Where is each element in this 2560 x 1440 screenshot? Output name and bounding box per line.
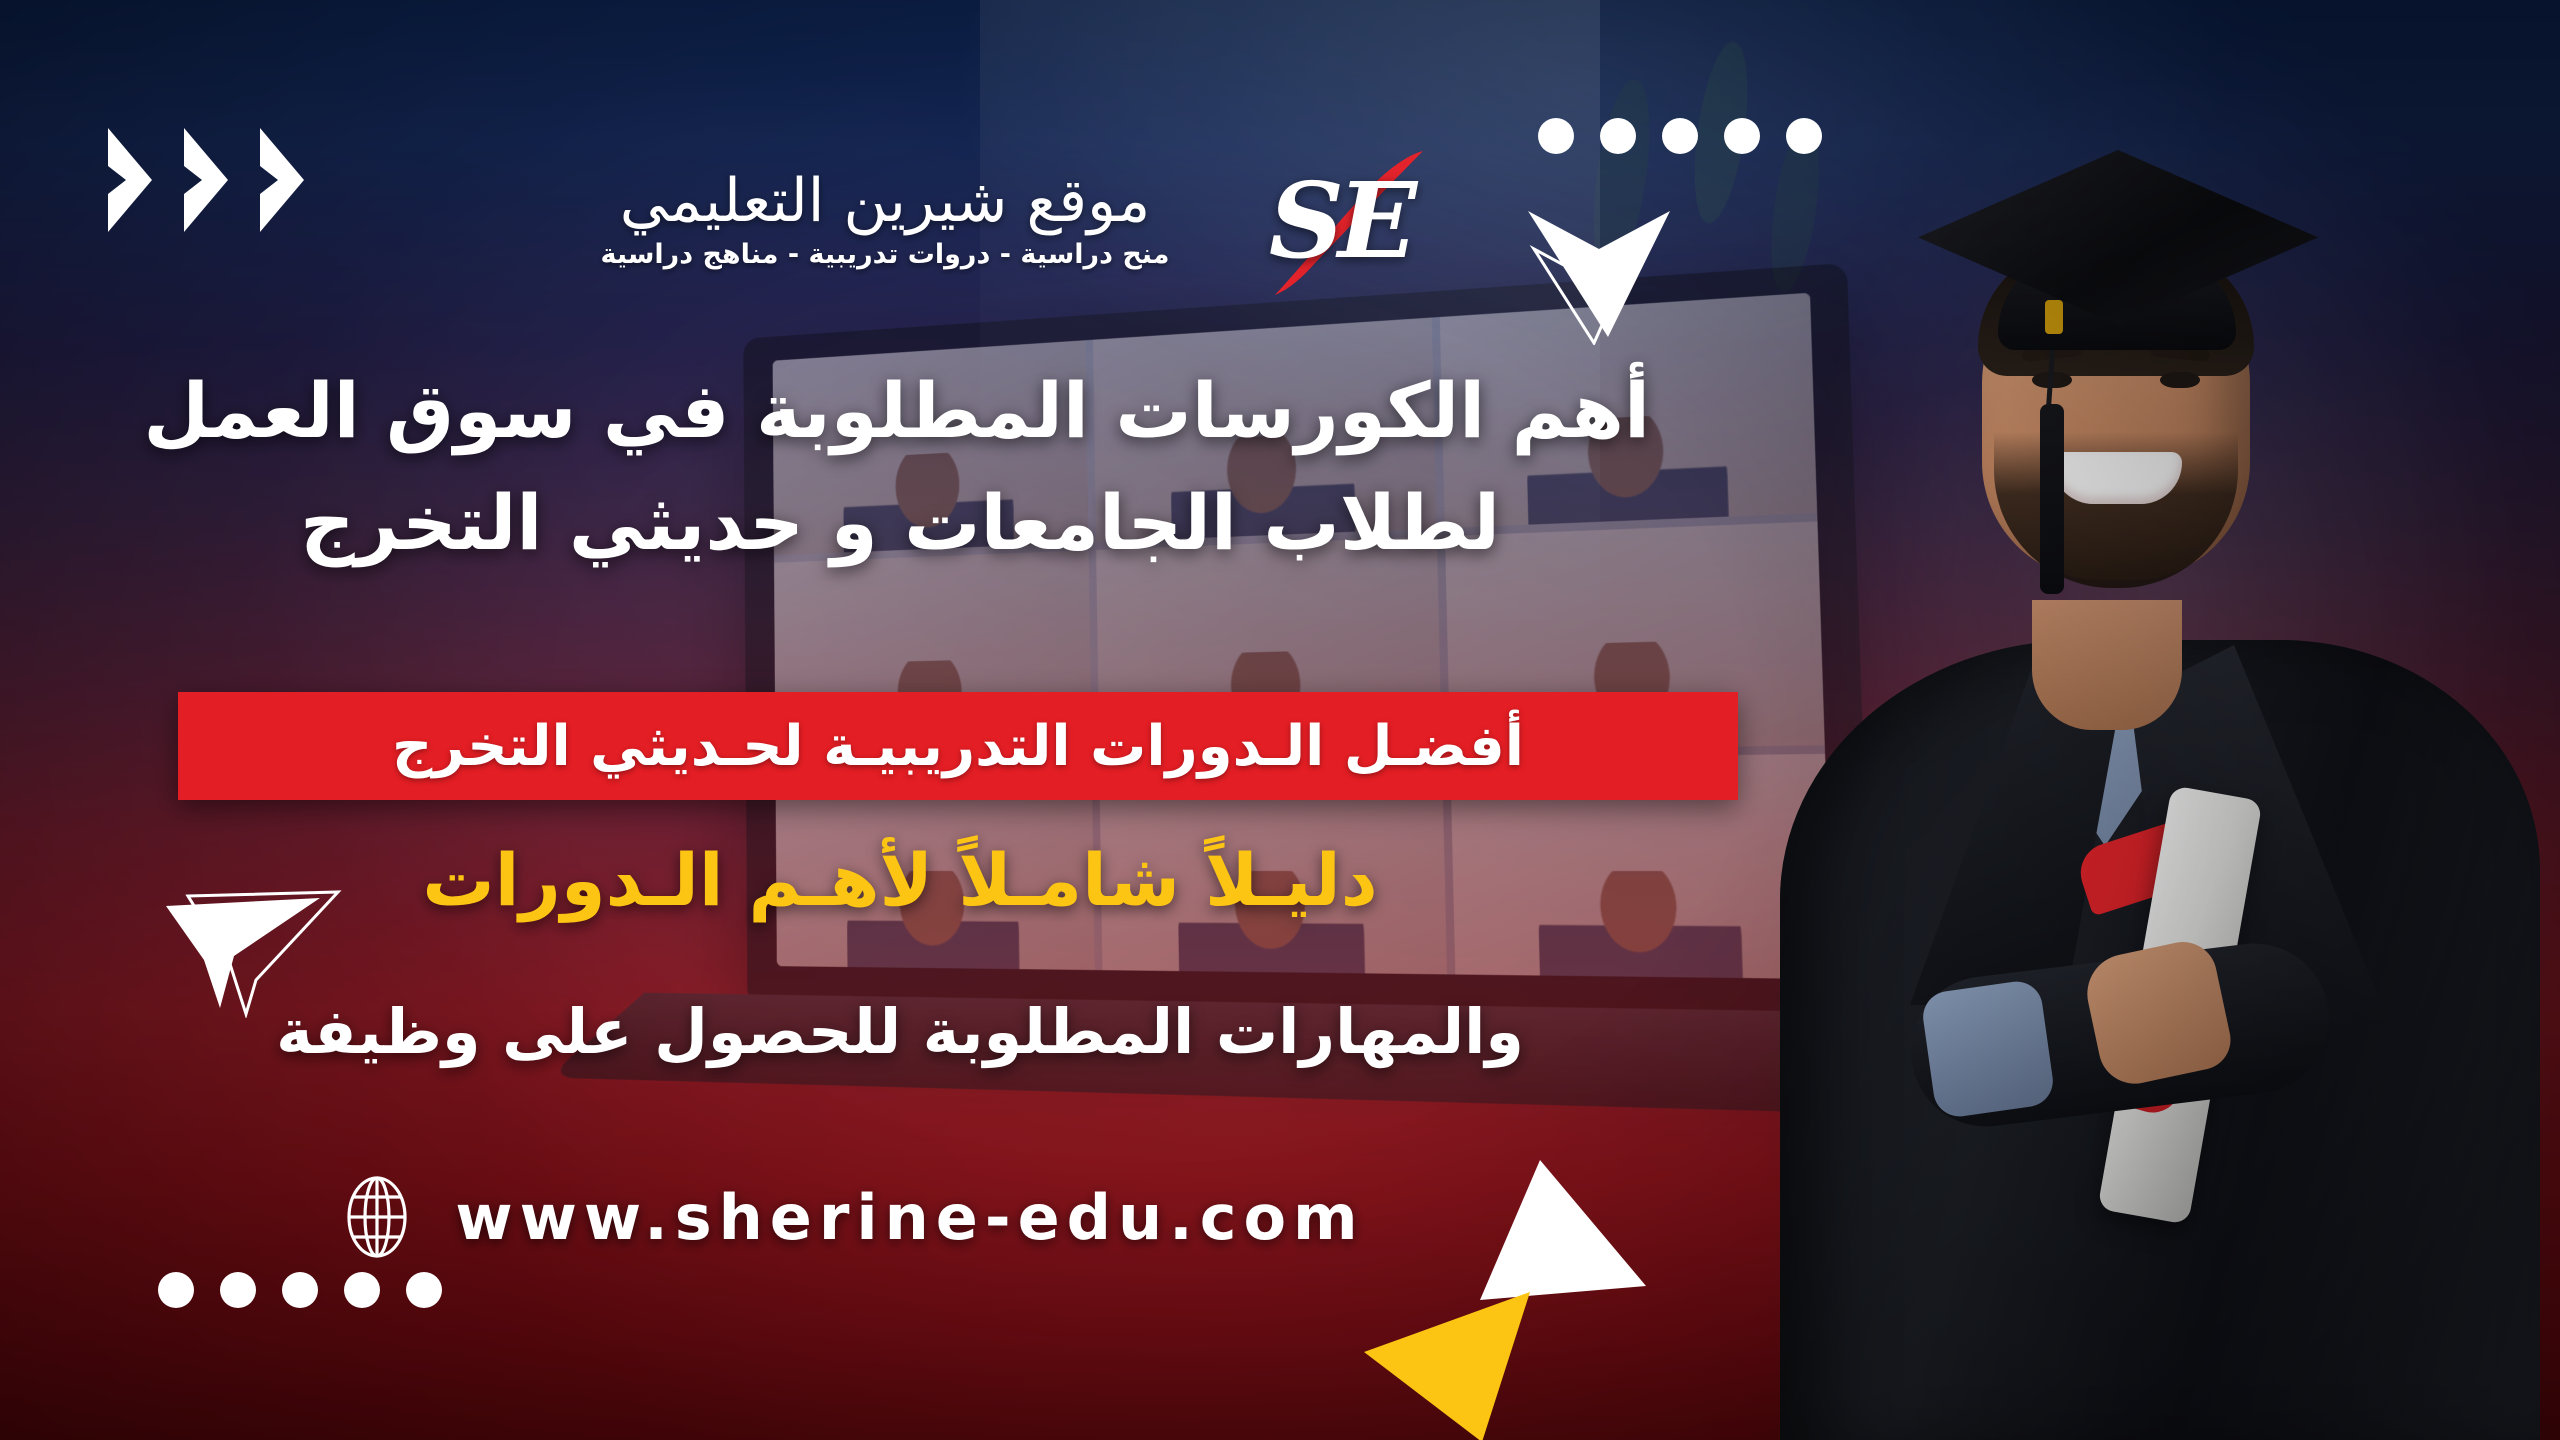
triangle-gold-icon [1362,1290,1537,1440]
dot [158,1272,194,1308]
dot [1538,118,1574,154]
gold-subheadline-text: دليـلاً شامـلاً لأهـم الـدورات [422,838,1377,922]
top-dots-decor [1538,118,1822,154]
chevron-right-icon [108,128,170,232]
monogram-letters: SE [1245,145,1435,295]
se-monogram: SE [1245,145,1435,295]
dot [282,1272,318,1308]
headline-line-2: لطلاب الجامعات و حديثي التخرج [150,467,1650,579]
headline-block: أهم الكورسات المطلوبة في سوق العمل لطلاب… [0,355,1760,580]
eye-right [2160,372,2200,388]
ribbon-text: أفضـل الـدورات التدريبيـة لحـديثي التخرج [392,714,1524,779]
gold-subheadline: دليـلاً شامـلاً لأهـم الـدورات [0,838,1760,922]
triangle-white-icon [1478,1158,1648,1308]
red-highlight-ribbon: أفضـل الـدورات التدريبيـة لحـديثي التخرج [178,692,1738,800]
dot [1662,118,1698,154]
neck [2032,600,2182,730]
dot [220,1272,256,1308]
dot [1600,118,1636,154]
smile [2052,452,2182,504]
chevron-group [108,128,322,232]
website-url[interactable]: www.sherine-edu.com [455,1181,1364,1254]
logo-tagline: منح دراسية - دروات تدريبية - مناهج دراسي… [525,239,1245,270]
supporting-subheadline: والمهارات المطلوبة للحصول على وظيفة [0,995,1760,1068]
dot [1724,118,1760,154]
cap-tassel-knot [2045,300,2063,334]
arrow-down-icon [1524,205,1674,345]
supporting-subheadline-text: والمهارات المطلوبة للحصول على وظيفة [276,995,1524,1068]
graduate-photo [1660,0,2560,1440]
dot [344,1272,380,1308]
bottom-dots-decor [158,1272,442,1308]
website-row[interactable]: www.sherine-edu.com [0,1175,1700,1259]
dot [406,1272,442,1308]
logo-title: موقع شيرين التعليمي [525,170,1245,233]
promotional-banner: SE موقع شيرين التعليمي منح دراسية - دروا… [0,0,2560,1440]
headline-line-1: أهم الكورسات المطلوبة في سوق العمل [150,355,1650,467]
cap-tassel-tail [2040,404,2064,594]
globe-icon [335,1175,419,1259]
logo-text-block: موقع شيرين التعليمي منح دراسية - دروات ت… [525,170,1245,270]
chevron-right-icon [184,128,246,232]
dot [1786,118,1822,154]
shirt-cuff [1920,978,2056,1119]
brand-logo: SE موقع شيرين التعليمي منح دراسية - دروا… [525,140,1425,300]
chevron-right-icon [260,128,322,232]
